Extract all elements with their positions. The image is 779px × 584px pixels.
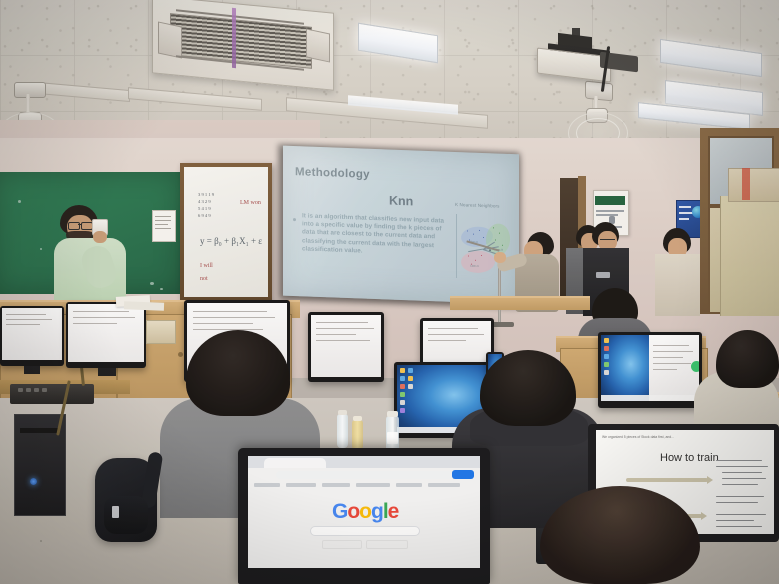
train-slide-title: How to train xyxy=(660,452,719,464)
code-line xyxy=(716,520,754,521)
teacher-hand xyxy=(93,231,107,243)
whiteboard-numbers-row3: 5 4 1 9 xyxy=(198,206,211,212)
google-buttons[interactable] xyxy=(322,540,406,547)
google-logo-letter-6: e xyxy=(388,500,399,523)
poster-line-1 xyxy=(596,210,624,212)
code-line xyxy=(716,514,766,515)
ac-vane-left xyxy=(158,21,182,58)
whiteboard-numbers-row4: 6 9 4 9 xyxy=(198,213,211,219)
whiteboard-line-2: not xyxy=(200,276,208,282)
notice-line-4 xyxy=(155,228,171,229)
train-slide-note: We organized 5 pieces of Stock data firs… xyxy=(602,435,688,440)
notice-line-2 xyxy=(155,220,171,221)
pc-drive-slot xyxy=(20,428,58,433)
wallpaper-left-half xyxy=(601,335,649,401)
google-lucky-button[interactable] xyxy=(366,540,408,549)
wall-notice-left xyxy=(152,210,176,242)
keyboard-tray[interactable] xyxy=(10,384,94,404)
keyboard-key xyxy=(18,388,23,392)
monitor-left-2-screen xyxy=(68,304,144,362)
train-arrow-1 xyxy=(626,478,708,482)
bottle-label xyxy=(387,432,398,444)
presenter-hand xyxy=(494,252,506,263)
whiteboard-numbers-row1: 3 9 1 1 9 xyxy=(198,192,214,198)
classroom-photo: 3 9 1 1 9 4 3 2 9 5 4 1 9 6 9 4 9 LM won… xyxy=(0,0,779,584)
tea-bottle xyxy=(352,420,363,450)
teacher-glasses-bridge xyxy=(78,224,81,225)
chrome-bookmarks-bar[interactable] xyxy=(254,483,474,490)
code-line xyxy=(716,466,768,467)
chalk-mark-1 xyxy=(18,200,21,203)
ceiling-fan-motor-right xyxy=(585,81,613,102)
safety-poster-banner xyxy=(595,196,625,205)
google-logo-letter-3: o xyxy=(359,500,371,523)
pc-power-led xyxy=(30,478,37,485)
chrome-address-bar[interactable] xyxy=(276,471,462,479)
standing-student-3-body xyxy=(655,254,700,316)
code-line xyxy=(722,484,758,485)
globe-poster-line-1 xyxy=(679,206,691,208)
whiteboard xyxy=(184,167,268,297)
google-logo-letter-2: o xyxy=(347,500,359,523)
ac-wire xyxy=(232,8,236,68)
code-line xyxy=(722,478,766,479)
monitor-left-1-screen xyxy=(2,308,62,360)
small-box xyxy=(146,320,176,344)
whiteboard-frame xyxy=(180,163,272,301)
code-line xyxy=(716,502,758,503)
code-line xyxy=(722,472,762,473)
globe-poster-line-3 xyxy=(679,218,689,220)
keyboard-key xyxy=(42,388,47,392)
cabinet-knob xyxy=(178,352,183,357)
monitor-left-2-stand xyxy=(98,368,116,376)
google-logo-letter-4: g xyxy=(371,500,383,523)
google-search-input[interactable] xyxy=(310,526,420,536)
code-line xyxy=(716,460,762,461)
google-logo-letter-1: G xyxy=(332,500,347,523)
code-line xyxy=(716,496,764,497)
right-cabinet xyxy=(720,196,779,316)
chrome-signin-button[interactable] xyxy=(452,470,474,479)
floor-speck xyxy=(40,540,42,542)
status-indicator xyxy=(691,361,699,372)
whiteboard-numbers-row2: 4 3 2 9 xyxy=(198,199,211,205)
chalk-mark-2 xyxy=(40,248,42,250)
code-line xyxy=(716,526,762,527)
mid-desk-left xyxy=(450,296,590,310)
whiteboard-note-right: LM won xyxy=(240,200,261,206)
bottle-cap-3 xyxy=(387,411,398,417)
chrome-window[interactable]: Google xyxy=(248,456,480,568)
monitor-mid-1-screen xyxy=(311,315,381,377)
globe-poster-line-2 xyxy=(679,212,693,214)
whiteboard-line-1: I will xyxy=(200,263,213,269)
monitor-left-1-stand xyxy=(24,366,40,374)
backpack-logo xyxy=(112,506,119,518)
standing-student-2-glasses xyxy=(600,239,615,244)
keyboard-key xyxy=(26,388,31,392)
google-logo: Google xyxy=(332,500,398,524)
paper-stack-2 xyxy=(124,301,164,310)
cardboard-box xyxy=(728,168,779,202)
notice-line-3 xyxy=(155,224,168,225)
box-tape xyxy=(742,168,750,200)
chalk-mark-3 xyxy=(150,282,154,285)
whiteboard-formula: y = β₀ + β₁X₁ + ε xyxy=(200,236,262,246)
backpack-pocket xyxy=(104,496,148,534)
poster-line-2 xyxy=(596,214,618,216)
projection-screen: Methodology Knn It is an algorithm that … xyxy=(283,146,519,305)
chalk-mark-4 xyxy=(160,288,163,290)
ceiling-fan-motor-left xyxy=(14,82,46,98)
notice-line-1 xyxy=(155,216,171,217)
google-search-button[interactable] xyxy=(322,540,362,549)
bottle-cap-2 xyxy=(353,416,362,421)
hoodie-logo xyxy=(596,272,610,278)
screen-glare xyxy=(283,146,519,305)
keyboard-key xyxy=(34,388,39,392)
water-bottle-1 xyxy=(337,414,348,448)
bottle-cap-1 xyxy=(338,410,347,415)
laptop-windows-2-screen xyxy=(601,335,699,401)
chrome-tab[interactable] xyxy=(264,458,326,468)
ac-vane-right xyxy=(306,28,330,62)
